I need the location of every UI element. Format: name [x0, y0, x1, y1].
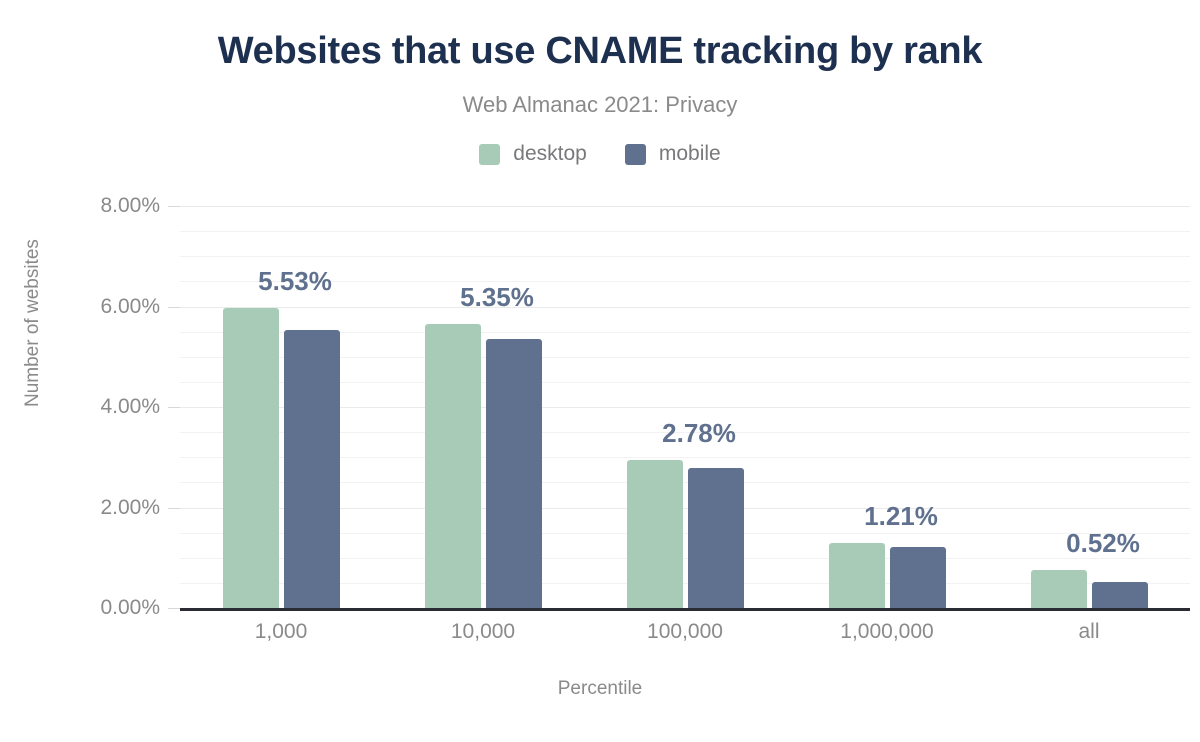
chart-title: Websites that use CNAME tracking by rank [0, 30, 1200, 73]
chart-legend: desktop mobile [0, 142, 1200, 166]
chart-subtitle: Web Almanac 2021: Privacy [0, 92, 1200, 118]
y-axis-tick-mark [168, 608, 180, 609]
y-axis-tick-mark [168, 407, 180, 408]
y-axis-tick-mark [168, 206, 180, 207]
bar-desktop-all[interactable] [1031, 570, 1087, 608]
bar-mobile-10000[interactable] [486, 339, 542, 608]
bar-mobile-100000[interactable] [688, 468, 744, 608]
y-axis-tick-mark [168, 508, 180, 509]
gridline-major [180, 206, 1190, 207]
bar-desktop-10000[interactable] [425, 324, 481, 608]
y-axis-title: Number of websites [22, 239, 44, 407]
x-axis-tick-label: 1,000,000 [840, 620, 933, 644]
bar-mobile-all[interactable] [1092, 582, 1148, 608]
y-axis-tick-label: 0.00% [10, 596, 160, 620]
bar-value-label: 5.53% [258, 266, 332, 297]
legend-label-mobile: mobile [659, 142, 721, 166]
legend-item-desktop[interactable]: desktop [479, 142, 587, 166]
bar-mobile-1000000[interactable] [890, 547, 946, 608]
bar-desktop-100000[interactable] [627, 460, 683, 608]
y-axis-tick-label: 2.00% [10, 496, 160, 520]
x-axis-title: Percentile [0, 678, 1200, 700]
bar-value-label: 1.21% [864, 501, 938, 532]
y-axis-tick-mark [168, 307, 180, 308]
x-axis-line [180, 608, 1190, 611]
bar-value-label: 2.78% [662, 418, 736, 449]
x-axis-tick-label: 100,000 [647, 620, 723, 644]
legend-swatch-desktop [479, 144, 500, 165]
y-axis-tick-label: 8.00% [10, 194, 160, 218]
gridline-minor [180, 256, 1190, 257]
legend-label-desktop: desktop [513, 142, 587, 166]
gridline-minor [180, 231, 1190, 232]
bar-value-label: 0.52% [1066, 528, 1140, 559]
legend-item-mobile[interactable]: mobile [625, 142, 721, 166]
gridline-major [180, 307, 1190, 308]
plot-area: 0.00%2.00%4.00%6.00%8.00%5.53%1,0005.35%… [180, 206, 1190, 608]
x-axis-tick-label: 1,000 [255, 620, 308, 644]
legend-swatch-mobile [625, 144, 646, 165]
bar-desktop-1000[interactable] [223, 308, 279, 608]
bar-mobile-1000[interactable] [284, 330, 340, 608]
bar-desktop-1000000[interactable] [829, 543, 885, 608]
x-axis-tick-label: all [1078, 620, 1099, 644]
bar-value-label: 5.35% [460, 282, 534, 313]
x-axis-tick-label: 10,000 [451, 620, 515, 644]
chart-container: Websites that use CNAME tracking by rank… [0, 0, 1200, 742]
